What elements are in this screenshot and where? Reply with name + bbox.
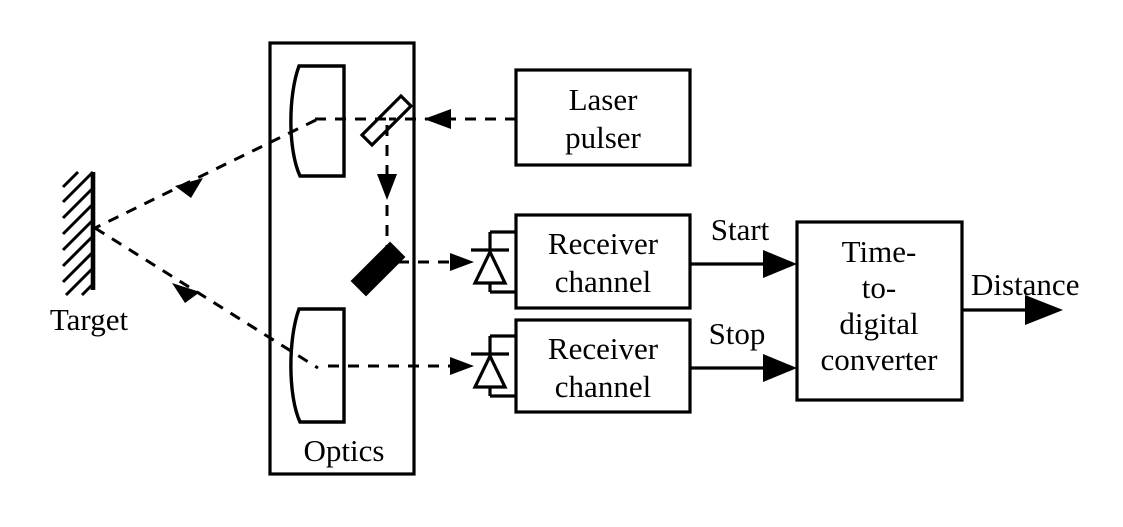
transmit-lens [291,66,344,176]
photodiode-start [471,232,516,292]
tdc-label-line2: to- [862,270,896,305]
optics-label: Optics [304,433,385,468]
beam-target-to-receive-lens [95,228,318,368]
arrowhead-to-splitter [424,109,451,129]
stop-signal-line [690,354,797,382]
beam-receive-lens-to-stop-photodiode [328,357,474,375]
beam-laser-to-splitter [389,109,516,129]
arrowhead-to-stop-photodiode [450,357,474,375]
beam-splitter [362,96,411,145]
photodiode-stop [471,336,516,396]
target-wall [63,172,93,295]
arrowhead-down-to-mirror [377,174,397,200]
arrowhead-to-start-photodiode [450,253,474,271]
beam-transmit-lens-to-target [95,120,316,228]
arrowhead-start-signal [763,250,797,278]
tdc-label-line4: converter [820,342,938,377]
tdc-label-line3: digital [839,306,918,341]
laser-pulser-label-line2: pulser [565,120,641,155]
receiver-stop-label-line2: channel [555,369,651,404]
mirror [352,243,404,295]
receiver-stop-label-line1: Receiver [548,331,659,366]
receiver-start-label-line1: Receiver [548,226,659,261]
diagram-canvas: Target Optics [0,0,1123,527]
lidar-block-diagram: Target Optics [0,0,1123,527]
distance-label: Distance [971,267,1079,302]
tdc-label-line1: Time- [842,234,917,269]
beam-splitter-to-mirror [377,125,397,262]
start-signal-line [690,250,797,278]
laser-pulser-label-line1: Laser [569,82,639,117]
stop-label: Stop [709,316,766,351]
arrowhead-stop-signal [763,354,797,382]
target-label: Target [50,302,129,337]
receiver-start-label-line2: channel [555,264,651,299]
start-label: Start [711,212,770,247]
